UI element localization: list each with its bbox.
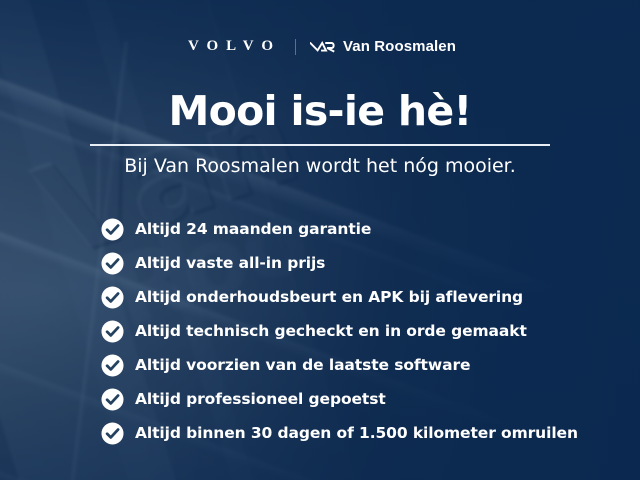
logo-bar: VOLVO Van Roosmalen bbox=[0, 38, 640, 55]
page-subtitle: Bij Van Roosmalen wordt het nóg mooier. bbox=[0, 155, 640, 178]
list-item: Altijd technisch gecheckt en in orde gem… bbox=[101, 314, 640, 348]
list-item-label: Altijd 24 maanden garantie bbox=[135, 220, 371, 238]
check-circle-icon bbox=[101, 354, 124, 377]
list-item-label: Altijd onderhoudsbeurt en APK bij afleve… bbox=[135, 288, 523, 306]
list-item-label: Altijd professioneel gepoetst bbox=[135, 390, 386, 408]
check-circle-icon bbox=[101, 252, 124, 275]
benefits-checklist: Altijd 24 maanden garantie Altijd vaste … bbox=[101, 212, 640, 450]
list-item-label: Altijd vaste all-in prijs bbox=[135, 254, 325, 272]
list-item-label: Altijd binnen 30 dagen of 1.500 kilomete… bbox=[135, 424, 578, 442]
list-item: Altijd onderhoudsbeurt en APK bij afleve… bbox=[101, 280, 640, 314]
logo-separator bbox=[295, 39, 296, 55]
page-title: Mooi is-ie hè! bbox=[0, 91, 640, 132]
list-item-label: Altijd voorzien van de laatste software bbox=[135, 356, 470, 374]
check-circle-icon bbox=[101, 218, 124, 241]
dealer-name: Van Roosmalen bbox=[343, 38, 456, 55]
check-circle-icon bbox=[101, 422, 124, 445]
list-item: Altijd 24 maanden garantie bbox=[101, 212, 640, 246]
check-circle-icon bbox=[101, 320, 124, 343]
divider bbox=[90, 144, 550, 146]
list-item: Altijd vaste all-in prijs bbox=[101, 246, 640, 280]
list-item: Altijd voorzien van de laatste software bbox=[101, 348, 640, 382]
vr-monogram-icon bbox=[310, 40, 336, 54]
volvo-wordmark: VOLVO bbox=[184, 38, 281, 55]
check-circle-icon bbox=[101, 388, 124, 411]
check-circle-icon bbox=[101, 286, 124, 309]
dealer-logo: Van Roosmalen bbox=[310, 38, 456, 55]
list-item: Altijd professioneel gepoetst bbox=[101, 382, 640, 416]
promo-poster: Van Roo VOLVO Van Roosmalen Mooi is-ie h… bbox=[0, 0, 640, 480]
list-item-label: Altijd technisch gecheckt en in orde gem… bbox=[135, 322, 527, 340]
poster-content: VOLVO Van Roosmalen Mooi is-ie hè! Bij V… bbox=[0, 0, 640, 480]
list-item: Altijd binnen 30 dagen of 1.500 kilomete… bbox=[101, 416, 640, 450]
